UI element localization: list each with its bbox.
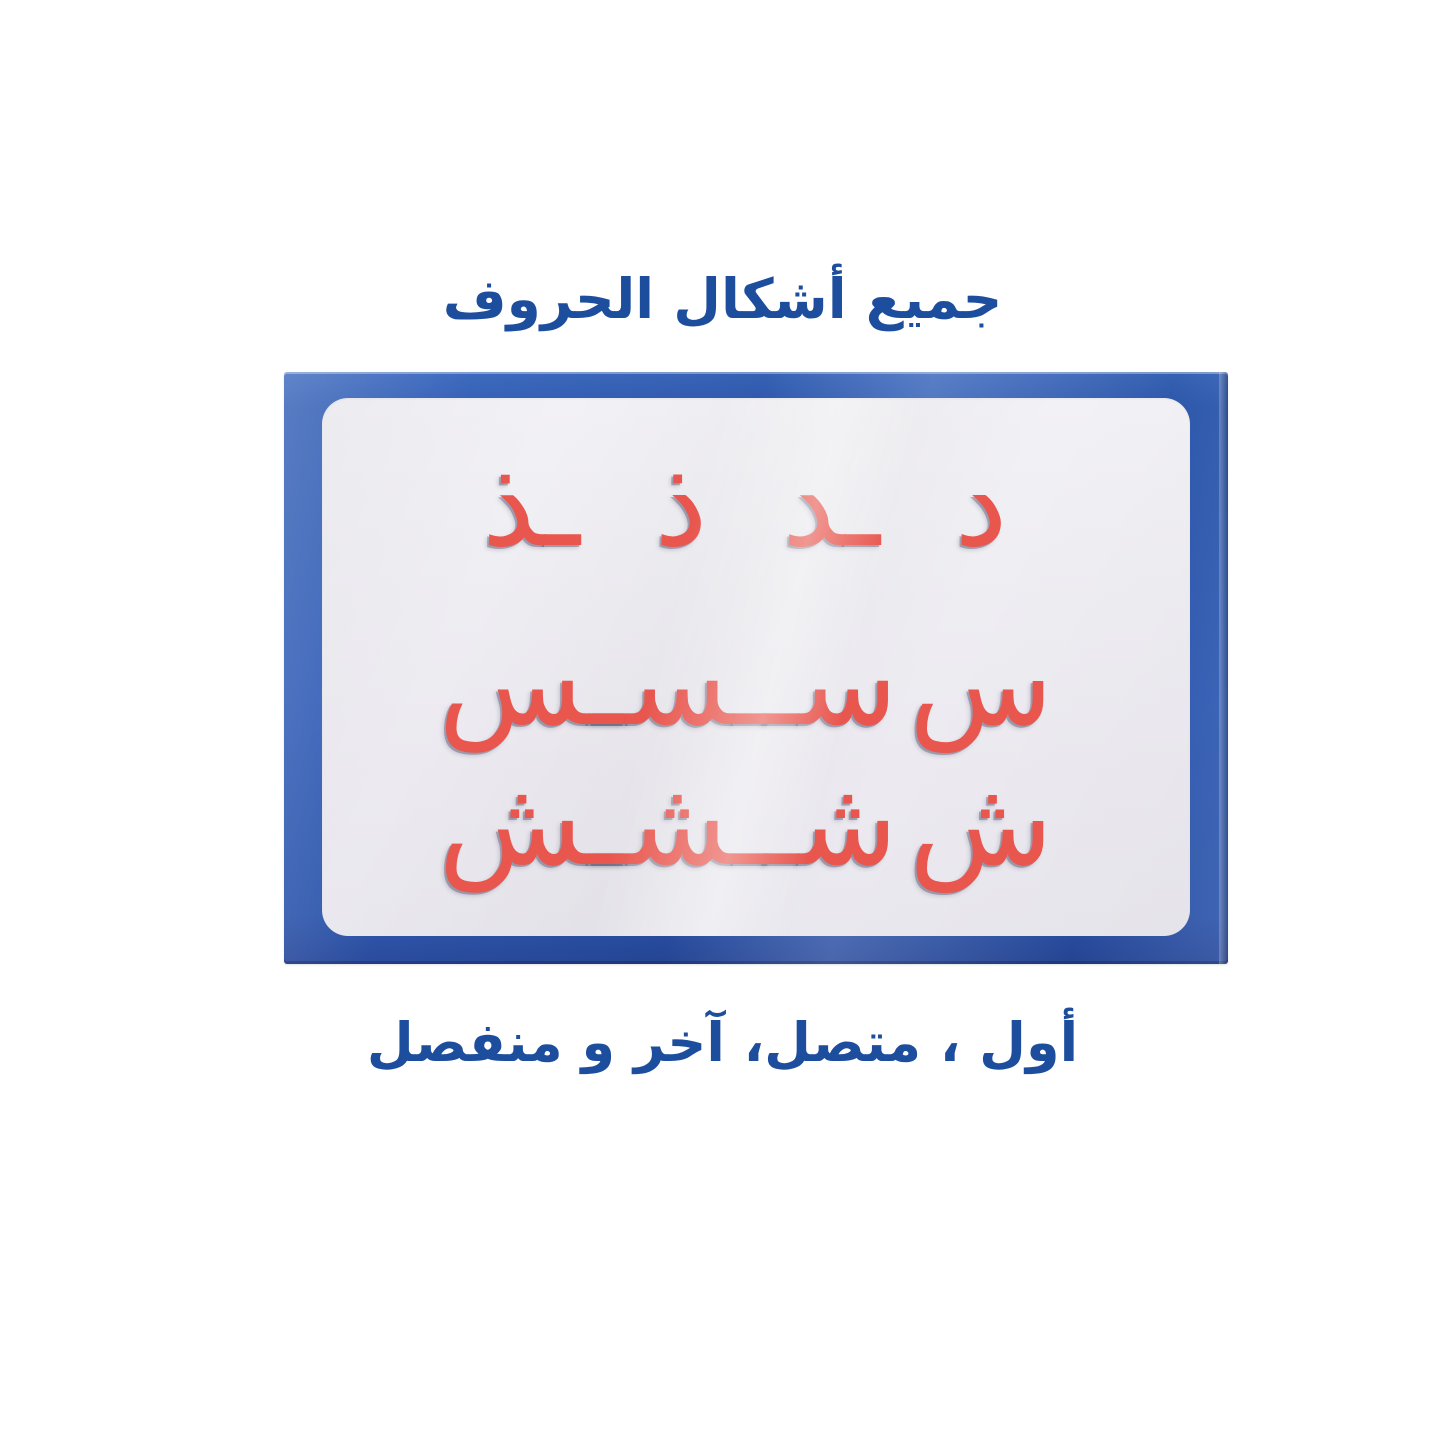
- letter-sheen-initial[interactable]: شـ: [756, 764, 906, 882]
- letter-dhal-final[interactable]: ـذ: [456, 445, 606, 565]
- letter-seen-final[interactable]: ـس: [456, 624, 606, 742]
- letter-dal-final[interactable]: ـد: [756, 445, 906, 565]
- letter-seen-medial[interactable]: ـسـ: [606, 624, 756, 742]
- letter-row-dal-dhal: د ـد ذ ـذ: [322, 440, 1190, 570]
- letter-dhal-isolated[interactable]: ذ: [606, 445, 756, 565]
- letter-board-panel: د ـد ذ ـذ س سـ ـسـ ـس ش شـ ـشـ ـش: [322, 398, 1190, 936]
- letter-dal-isolated[interactable]: د: [906, 445, 1056, 565]
- product-image-canvas: جميع أشكال الحروف د ـد ذ ـذ س سـ ـسـ ـس …: [0, 0, 1445, 1445]
- footer-caption: أول ، متصل، آخر و منفصل: [0, 1016, 1445, 1070]
- letter-board: د ـد ذ ـذ س سـ ـسـ ـس ش شـ ـشـ ـش: [284, 372, 1228, 964]
- letter-sheen-final[interactable]: ـش: [456, 764, 606, 882]
- letter-sheen-medial[interactable]: ـشـ: [606, 764, 756, 882]
- page-title: جميع أشكال الحروف: [0, 272, 1445, 327]
- letter-row-seen: س سـ ـسـ ـس: [322, 618, 1190, 748]
- letter-sheen-isolated[interactable]: ش: [906, 764, 1056, 882]
- letter-seen-isolated[interactable]: س: [906, 624, 1056, 742]
- letter-seen-initial[interactable]: سـ: [756, 624, 906, 742]
- letter-row-sheen: ش شـ ـشـ ـش: [322, 748, 1190, 898]
